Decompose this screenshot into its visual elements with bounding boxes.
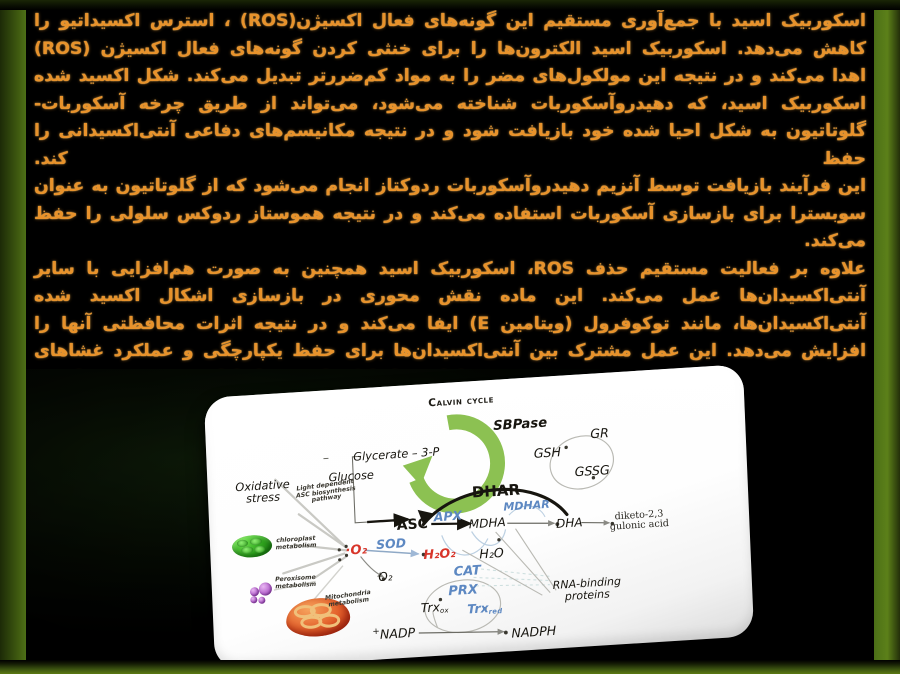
label-nadph: NADPH — [511, 624, 556, 640]
label-trx-red: Trxred — [467, 600, 503, 617]
label-gsh: GSH — [533, 445, 561, 460]
arrow-mdha-dha — [507, 520, 554, 526]
label-h2o: H₂O — [479, 546, 504, 561]
trx-red-text: Trx — [467, 600, 489, 616]
nadp-text: NADP — [380, 625, 416, 642]
arrow-nadp-nadph — [419, 628, 504, 637]
label-superoxide: O₂· — [345, 543, 367, 558]
label-mdha: MDHA — [469, 516, 506, 531]
label-apx: APX — [434, 509, 463, 524]
diagram-card-surface: Calvin cycle SBPase Glycerate – 3-P Gluc… — [204, 364, 754, 670]
diagram-card: Calvin cycle SBPase Glycerate – 3-P Gluc… — [204, 364, 754, 670]
trx-red-subscript: red — [489, 607, 503, 616]
label-gr: GR — [590, 426, 609, 440]
label-dha: DHA — [556, 516, 583, 530]
label-o2: O₂ — [378, 570, 393, 583]
label-oxidative-stress: Oxidative stress — [226, 478, 299, 506]
label-cat: CAT — [453, 564, 481, 579]
label-rna-binding-proteins: RNA-binding proteins — [549, 575, 626, 603]
label-gssg: GSSG — [574, 463, 610, 478]
label-prx: PRX — [448, 583, 478, 598]
label-dhar: DHAR — [472, 483, 521, 502]
trx-ox-subscript: ox — [440, 606, 449, 615]
trx-ox-text: Trx — [421, 599, 441, 615]
label-h2o2: H₂O₂ — [423, 546, 456, 561]
label-sod: SOD — [376, 536, 406, 551]
persian-text-block: اسکوربیک اسید با جمع‌آوری مستقیم این گون… — [34, 8, 866, 393]
label-mdhar: MDHAR — [503, 499, 550, 513]
slide-root: اسکوربیک اسید با جمع‌آوری مستقیم این گون… — [0, 0, 900, 674]
slide-stage: اسکوربیک اسید با جمع‌آوری مستقیم این گون… — [26, 6, 874, 666]
arrow-dha-diketo — [581, 521, 609, 525]
label-trx-ox: Trxox — [421, 600, 449, 617]
paragraph-2: این فرآیند بازیافت توسط آنزیم دهیدروآسکو… — [34, 173, 866, 256]
paragraph-1: اسکوربیک اسید با جمع‌آوری مستقیم این گون… — [34, 8, 866, 173]
label-nadp: NADP+ — [372, 626, 415, 642]
label-diketo-gulonic-acid: 2,3-diketo gulonic acid — [606, 509, 673, 533]
pathway-diagram: Calvin cycle SBPase Glycerate – 3-P Gluc… — [204, 364, 754, 670]
label-asc: ASC — [396, 517, 428, 534]
